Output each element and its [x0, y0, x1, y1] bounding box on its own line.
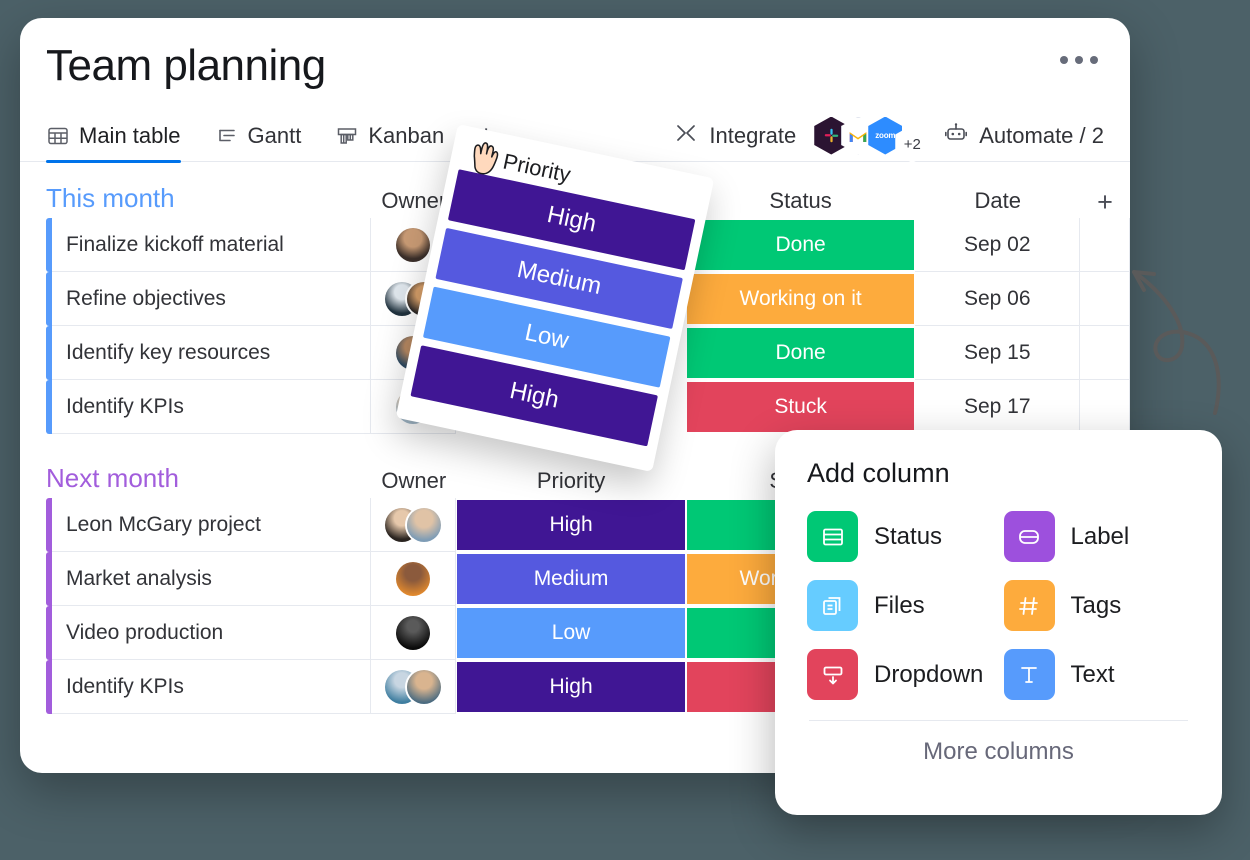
priority-badge: High	[457, 500, 685, 550]
row-date: Sep 17	[915, 380, 1080, 434]
automate-button[interactable]: Automate / 2	[943, 120, 1104, 152]
column-header-date: Date	[915, 188, 1080, 214]
column-header-owner-2: Owner	[371, 468, 456, 494]
group-title-this-month: This month	[46, 183, 371, 214]
row-date: Sep 15	[915, 326, 1080, 380]
add-column-options: Status Label	[807, 511, 1190, 700]
add-column-option-label[interactable]: Label	[1004, 511, 1191, 562]
integration-badges[interactable]: zoom +2	[814, 108, 929, 163]
column-header-priority-2: Priority	[456, 468, 686, 494]
add-column-title: Add column	[807, 458, 1190, 489]
add-column-popup: Add column Status Label	[775, 430, 1222, 815]
avatar	[396, 562, 430, 596]
avatar	[385, 508, 441, 542]
row-owner[interactable]	[371, 498, 456, 552]
more-integrations-label: +2	[904, 136, 921, 153]
tab-label: Main table	[79, 123, 181, 149]
row-owner[interactable]	[371, 660, 456, 714]
add-column-option-tags[interactable]: Tags	[1004, 580, 1191, 631]
tab-label: Kanban	[368, 123, 444, 149]
add-column-option-status[interactable]: Status	[807, 511, 994, 562]
divider	[809, 720, 1188, 721]
avatar	[396, 616, 430, 650]
option-label: Label	[1071, 523, 1130, 551]
avatar	[396, 228, 430, 262]
row-name: Leon McGary project	[52, 498, 371, 552]
toolbar-right: Integrate	[673, 108, 1130, 163]
integrate-button[interactable]: Integrate	[673, 120, 796, 152]
tab-main-table[interactable]: Main table	[46, 110, 181, 162]
gantt-icon	[215, 124, 239, 148]
row-name: Market analysis	[52, 552, 371, 606]
option-label: Text	[1071, 661, 1115, 689]
text-icon	[1004, 649, 1055, 700]
status-badge: Done	[687, 328, 915, 378]
integrate-label: Integrate	[709, 123, 796, 149]
screen: Team planning Main table	[0, 0, 1250, 860]
curly-arrow-doodle	[1112, 238, 1237, 418]
group-title-next-month: Next month	[46, 463, 371, 494]
table-icon	[46, 124, 70, 148]
row-name: Refine objectives	[52, 272, 371, 326]
robot-icon	[943, 120, 969, 152]
row-status[interactable]: Stuck	[686, 380, 916, 434]
status-badge: Done	[687, 220, 915, 270]
page-title: Team planning	[20, 44, 1130, 88]
option-label: Tags	[1071, 592, 1122, 620]
row-priority[interactable]: Medium	[456, 552, 686, 606]
status-badge: Stuck	[687, 382, 915, 432]
status-icon	[807, 511, 858, 562]
row-name: Identify KPIs	[52, 380, 371, 434]
avatar	[385, 670, 441, 704]
integrate-icon	[673, 120, 699, 152]
add-column-button[interactable]: +	[1080, 192, 1130, 214]
row-status[interactable]: Working on it	[686, 272, 916, 326]
status-badge: Working on it	[687, 274, 915, 324]
zoom-label: zoom	[875, 131, 895, 140]
files-icon	[807, 580, 858, 631]
row-owner[interactable]	[371, 606, 456, 660]
row-date: Sep 06	[915, 272, 1080, 326]
kanban-icon	[335, 124, 359, 148]
label-icon	[1004, 511, 1055, 562]
row-name: Identify key resources	[52, 326, 371, 380]
tab-label: Gantt	[248, 123, 302, 149]
column-header-status: Status	[686, 188, 916, 214]
tab-gantt[interactable]: Gantt	[215, 110, 302, 162]
more-columns-link[interactable]: More columns	[807, 738, 1190, 766]
priority-badge: High	[457, 662, 685, 712]
dropdown-icon	[807, 649, 858, 700]
option-label: Files	[874, 592, 925, 620]
row-status[interactable]: Done	[686, 218, 916, 272]
row-priority[interactable]: High	[456, 660, 686, 714]
add-column-option-dropdown[interactable]: Dropdown	[807, 649, 994, 700]
row-name: Video production	[52, 606, 371, 660]
tab-kanban[interactable]: Kanban	[335, 110, 444, 162]
row-priority[interactable]: Low	[456, 606, 686, 660]
row-owner[interactable]	[371, 552, 456, 606]
add-column-option-files[interactable]: Files	[807, 580, 994, 631]
automate-label: Automate / 2	[979, 123, 1104, 149]
more-options-button[interactable]	[1060, 56, 1098, 64]
row-name: Identify KPIs	[52, 660, 371, 714]
priority-badge: Medium	[457, 554, 685, 604]
add-column-option-text[interactable]: Text	[1004, 649, 1191, 700]
tags-icon	[1004, 580, 1055, 631]
row-name: Finalize kickoff material	[52, 218, 371, 272]
option-label: Status	[874, 523, 942, 551]
priority-badge: Low	[457, 608, 685, 658]
option-label: Dropdown	[874, 661, 983, 689]
row-priority[interactable]: High	[456, 498, 686, 552]
row-status[interactable]: Done	[686, 326, 916, 380]
grab-hand-icon	[461, 133, 511, 185]
row-date: Sep 02	[915, 218, 1080, 272]
